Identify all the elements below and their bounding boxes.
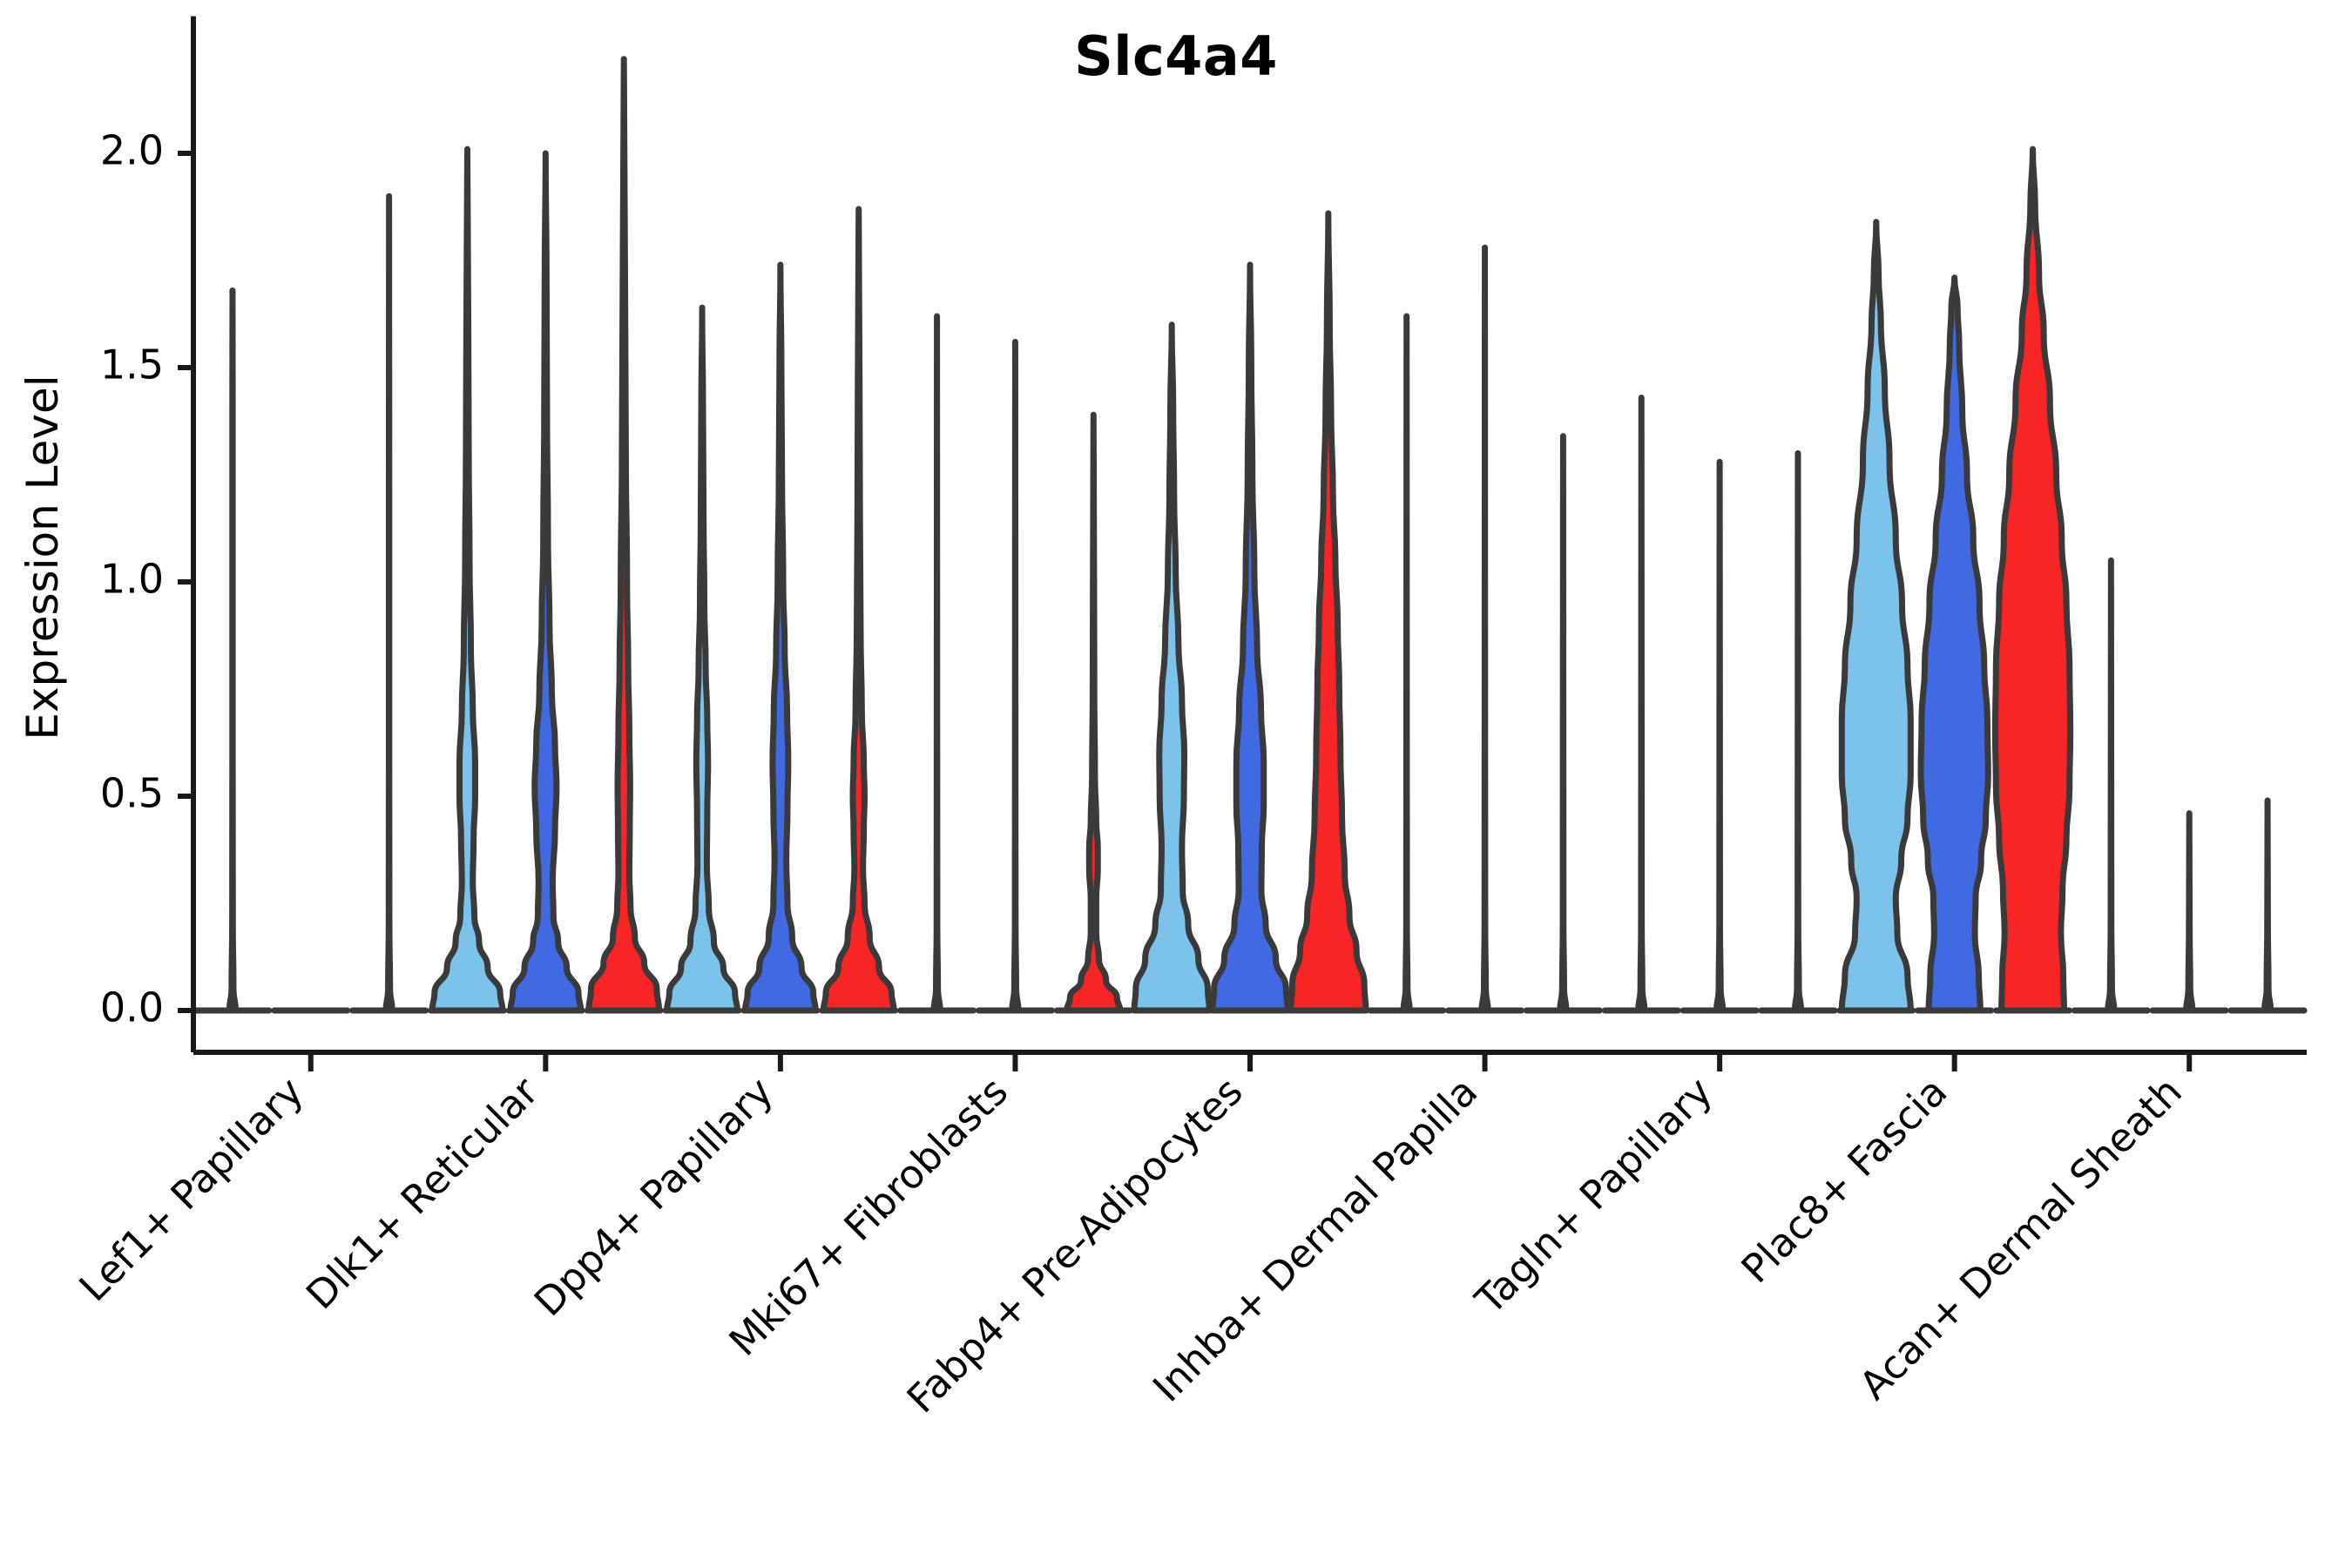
violin-body — [1560, 436, 1566, 1010]
violin-body — [823, 209, 894, 1010]
violin-body — [1012, 341, 1018, 1010]
y-tick-label: 1.5 — [100, 341, 164, 389]
y-tick-label: 0.5 — [100, 770, 164, 817]
violin-body — [386, 196, 392, 1010]
y-axis-label: Expression Level — [17, 375, 68, 740]
violin-body — [1134, 325, 1209, 1010]
violin-body — [510, 153, 581, 1010]
violin-body — [432, 149, 503, 1010]
violin-plot-canvas: 0.00.51.01.52.0 Lef1+ PapillaryDlk1+ Ret… — [0, 0, 2352, 1568]
y-tick-labels: 0.00.51.01.52.0 — [100, 127, 164, 1031]
x-tick-labels: Lef1+ PapillaryDlk1+ ReticularDpp4+ Papi… — [71, 1068, 2191, 1422]
violin-body — [667, 308, 738, 1010]
violin-body — [1482, 247, 1488, 1010]
violin-body — [1403, 316, 1409, 1010]
violin-body — [745, 265, 815, 1010]
x-tick-label: Tagln+ Papillary — [1466, 1068, 1721, 1323]
violin-body — [589, 59, 659, 1010]
violin-body — [2264, 801, 2270, 1010]
violins-layer — [196, 59, 2304, 1010]
violin-body — [229, 290, 235, 1010]
violin-body — [1291, 213, 1366, 1010]
violin-body — [1995, 149, 2070, 1010]
violin-body — [1921, 278, 1988, 1010]
x-tick-label: Lef1+ Papillary — [71, 1068, 313, 1310]
violin-body — [1213, 265, 1288, 1010]
x-tick-label: Plac8+ Fascia — [1733, 1068, 1957, 1292]
violin-body — [1639, 397, 1645, 1010]
violin-body — [2186, 814, 2193, 1010]
y-tick-label: 0.0 — [100, 984, 164, 1031]
violin-body — [2108, 560, 2114, 1010]
x-tick-label: Dlk1+ Reticular — [297, 1068, 547, 1318]
y-tick-label: 1.0 — [100, 556, 164, 603]
y-tick-label: 2.0 — [100, 127, 164, 174]
violin-body — [1794, 453, 1801, 1010]
violin-plot-figure: Slc4a4 0.00.51.01.52.0 Lef1+ PapillaryDl… — [0, 0, 2352, 1568]
violin-body — [934, 316, 940, 1010]
violin-body — [1067, 415, 1120, 1010]
violin-body — [1717, 462, 1723, 1010]
violin-body — [1842, 222, 1910, 1010]
x-tick-label: Dpp4+ Papillary — [525, 1068, 782, 1325]
